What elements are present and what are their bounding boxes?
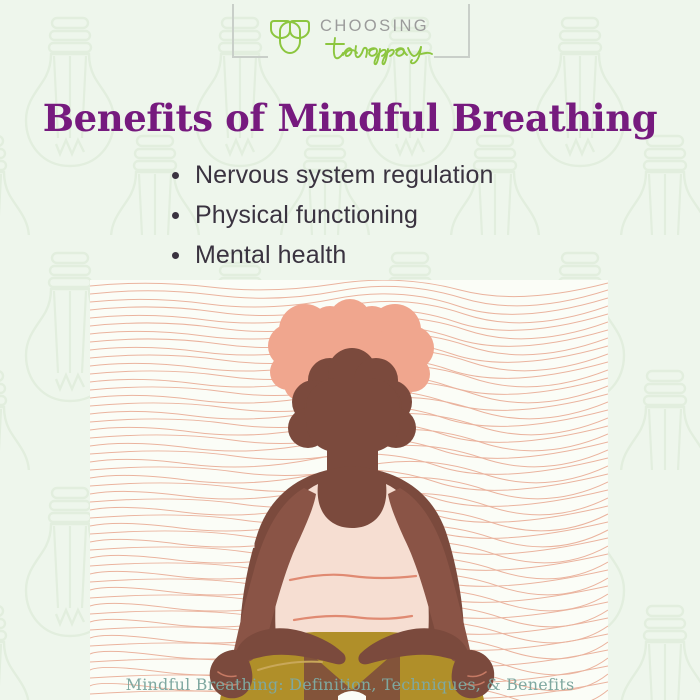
infographic-canvas: CHOOSING: [0, 0, 700, 700]
list-item-label: Mental health: [195, 241, 346, 269]
illustration-woman-meditating: [90, 280, 608, 700]
logo-wordmark: CHOOSING: [320, 17, 429, 36]
list-item: Physical functioning: [168, 200, 493, 230]
lotus-leaf-icon-svg: [268, 17, 312, 57]
logo-script-svg: [322, 36, 434, 66]
bullet-dot-icon: [172, 172, 179, 179]
caption-text: Mindful Breathing: Definition, Technique…: [0, 675, 700, 694]
logo-script-word: [322, 36, 434, 66]
page-title: Benefits of Mindful Breathing: [0, 96, 700, 140]
logo-bracket-right: [434, 4, 470, 58]
logo-inner[interactable]: CHOOSING: [268, 12, 433, 67]
lotus-leaf-icon: [268, 17, 312, 57]
logo-block: CHOOSING: [0, 0, 700, 80]
list-item-label: Physical functioning: [195, 201, 418, 229]
bullet-dot-icon: [172, 212, 179, 219]
list-item: Mental health: [168, 240, 493, 270]
bullet-dot-icon: [172, 252, 179, 259]
illustration-svg: [90, 280, 608, 700]
list-item-label: Nervous system regulation: [195, 161, 493, 189]
logo-bracket-left: [232, 4, 268, 58]
benefits-list: Nervous system regulation Physical funct…: [168, 160, 493, 280]
list-item: Nervous system regulation: [168, 160, 493, 190]
